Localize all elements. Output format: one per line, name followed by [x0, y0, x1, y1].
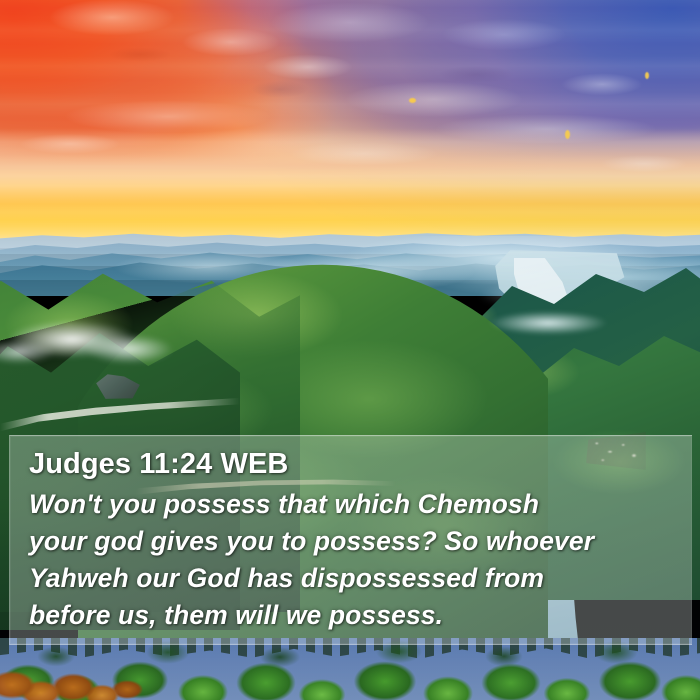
verse-text: Won't you possess that which Chemosh you…: [29, 486, 676, 634]
verse-line: Yahweh our God has dispossessed from: [29, 560, 676, 597]
verse-reference: Judges 11:24 WEB: [29, 446, 676, 482]
verse-line: before us, them will we possess.: [29, 597, 676, 634]
verse-line: your god gives you to possess? So whoeve…: [29, 523, 676, 560]
cloud-glint-icon: [565, 130, 570, 139]
cloud-glint-icon: [409, 98, 416, 103]
foreground-autumn-foliage: [0, 642, 174, 700]
cloud-puffs: [0, 0, 700, 248]
fog-patch-river: [470, 300, 640, 346]
verse-line: Won't you possess that which Chemosh: [29, 486, 676, 523]
cloud-glint-icon: [645, 72, 649, 79]
fog-patch-left: [0, 310, 182, 380]
verse-overlay-panel: Judges 11:24 WEB Won't you possess that …: [9, 435, 692, 645]
verse-image-canvas: Judges 11:24 WEB Won't you possess that …: [0, 0, 700, 700]
